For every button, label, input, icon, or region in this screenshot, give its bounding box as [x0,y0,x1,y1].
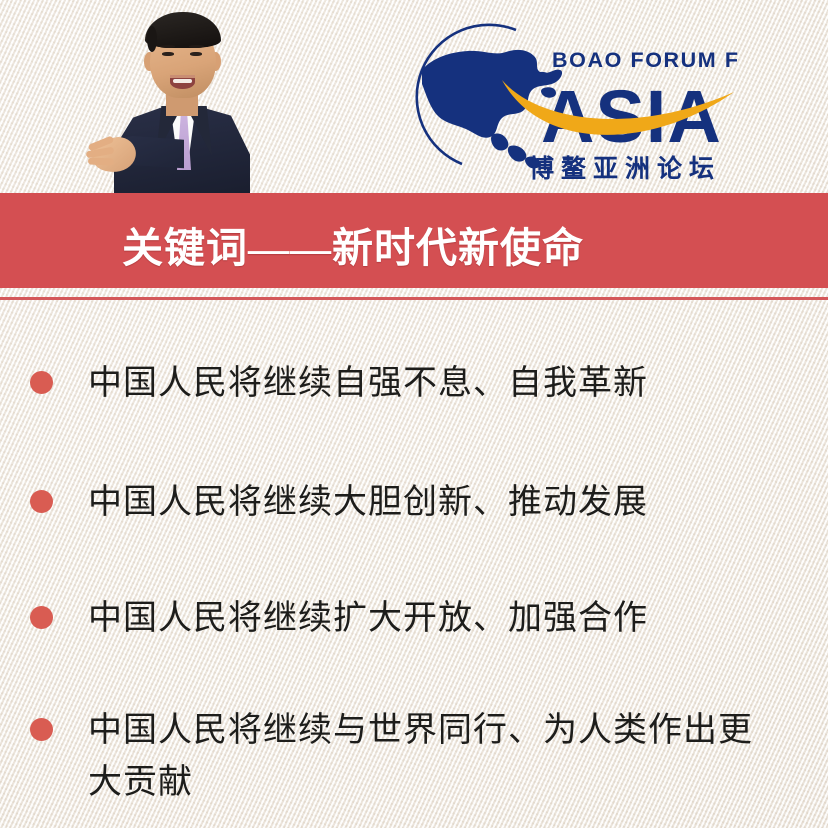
portrait-mouth [170,75,195,89]
list-item-label: 中国人民将继续扩大开放、加强合作 [88,593,648,645]
page-title: 关键词——新时代新使命 [122,214,584,274]
list-item: 中国人民将继续扩大开放、加强合作 [0,593,828,645]
list-item-label: 中国人民将继续自强不息、自我革新 [88,358,648,410]
speaker-portrait [98,8,258,193]
portrait-brow-right [189,45,204,48]
portrait-eye-right [190,52,202,56]
bullet-dot-icon [30,606,53,629]
svg-text:BOAO FORUM FOR: BOAO FORUM FOR [552,48,738,72]
poster-canvas: BOAO FORUM FOR ASIA 博鳌亚洲论坛 关键词——新时代新使命 中… [0,0,828,828]
header-zone: BOAO FORUM FOR ASIA 博鳌亚洲论坛 [0,0,828,193]
portrait-finger [88,158,114,166]
divider-rule [0,297,828,300]
logo-chinese-name: 博鳌亚洲论坛 [529,149,721,185]
list-item: 中国人民将继续大胆创新、推动发展 [0,477,828,529]
list-item-label: 中国人民将继续大胆创新、推动发展 [88,477,648,529]
portrait-hair [145,12,221,48]
bullet-list: 中国人民将继续自强不息、自我革新 中国人民将继续大胆创新、推动发展 中国人民将继… [0,320,828,809]
footer-zone: @新华视点 新华社法人微博 @新华视点 [0,740,828,828]
list-item: 中国人民将继续自强不息、自我革新 [0,358,828,410]
portrait-brow-left [160,45,175,48]
portrait-eye-left [162,52,174,56]
boao-forum-logo: BOAO FORUM FOR ASIA 博鳌亚洲论坛 [398,18,738,188]
bullet-dot-icon [30,371,53,394]
bullet-dot-icon [30,490,53,513]
bullet-dot-icon [30,718,53,741]
